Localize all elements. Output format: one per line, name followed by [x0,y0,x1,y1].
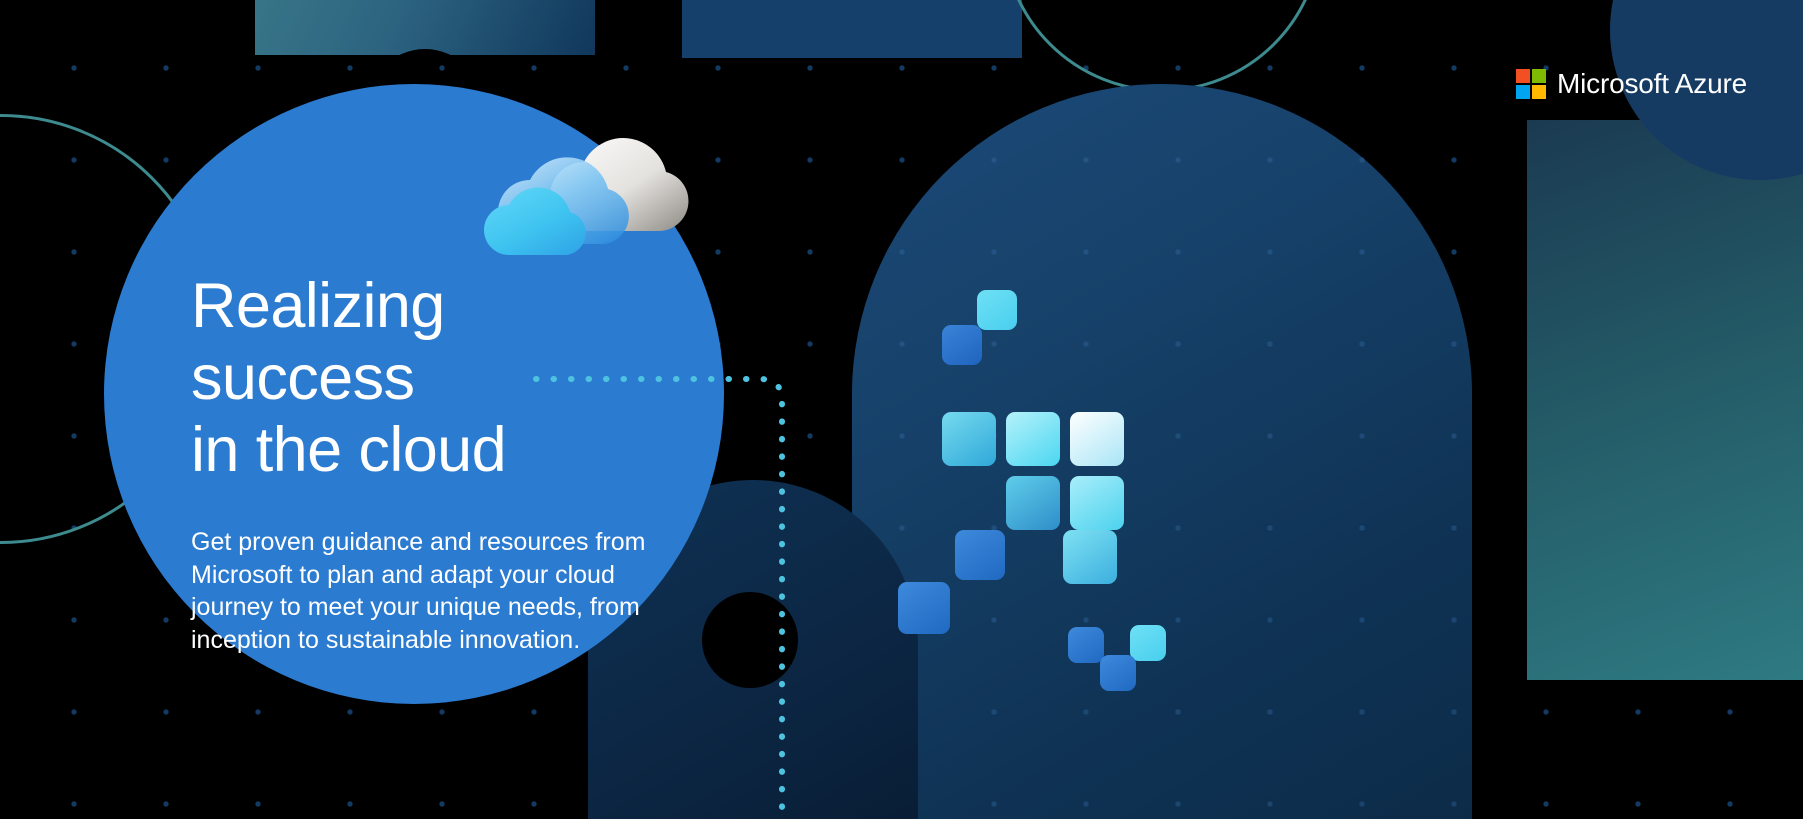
square-10 [898,582,950,634]
brand-lockup: Microsoft Azure [1516,68,1747,100]
dark-blob-cutout [702,592,798,688]
square-12 [1130,625,1166,661]
square-5 [1070,412,1124,466]
navy-rectangle-top [682,0,1022,58]
brand-name: Microsoft Azure [1557,68,1747,100]
square-1 [977,290,1017,330]
logo-square-blue [1516,85,1530,99]
microsoft-logo-icon [1516,69,1546,99]
navy-dome-main [852,84,1472,819]
square-9 [1063,530,1117,584]
square-2 [942,325,982,365]
arch-body [255,0,595,55]
cloud-icon [470,96,710,256]
hero-text-block: Realizing success in the cloud Get prove… [191,270,681,656]
logo-square-yellow [1532,85,1546,99]
logo-square-green [1532,69,1546,83]
logo-square-red [1516,69,1530,83]
square-3 [942,412,996,466]
arch-cutout [368,49,482,55]
square-11 [1068,627,1104,663]
circle-outline-right-icon [1002,0,1322,92]
square-6 [1006,476,1060,530]
hero-description: Get proven guidance and resources from M… [191,526,681,656]
square-4 [1006,412,1060,466]
square-7 [1070,476,1124,530]
arch-shape [255,0,595,55]
square-13 [1100,655,1136,691]
dome-dot-grid [852,84,1472,819]
hero-banner: Realizing success in the cloud Get prove… [0,0,1803,819]
square-8 [955,530,1005,580]
page-title: Realizing success in the cloud [191,270,681,486]
teal-gradient-rectangle [1527,120,1803,680]
